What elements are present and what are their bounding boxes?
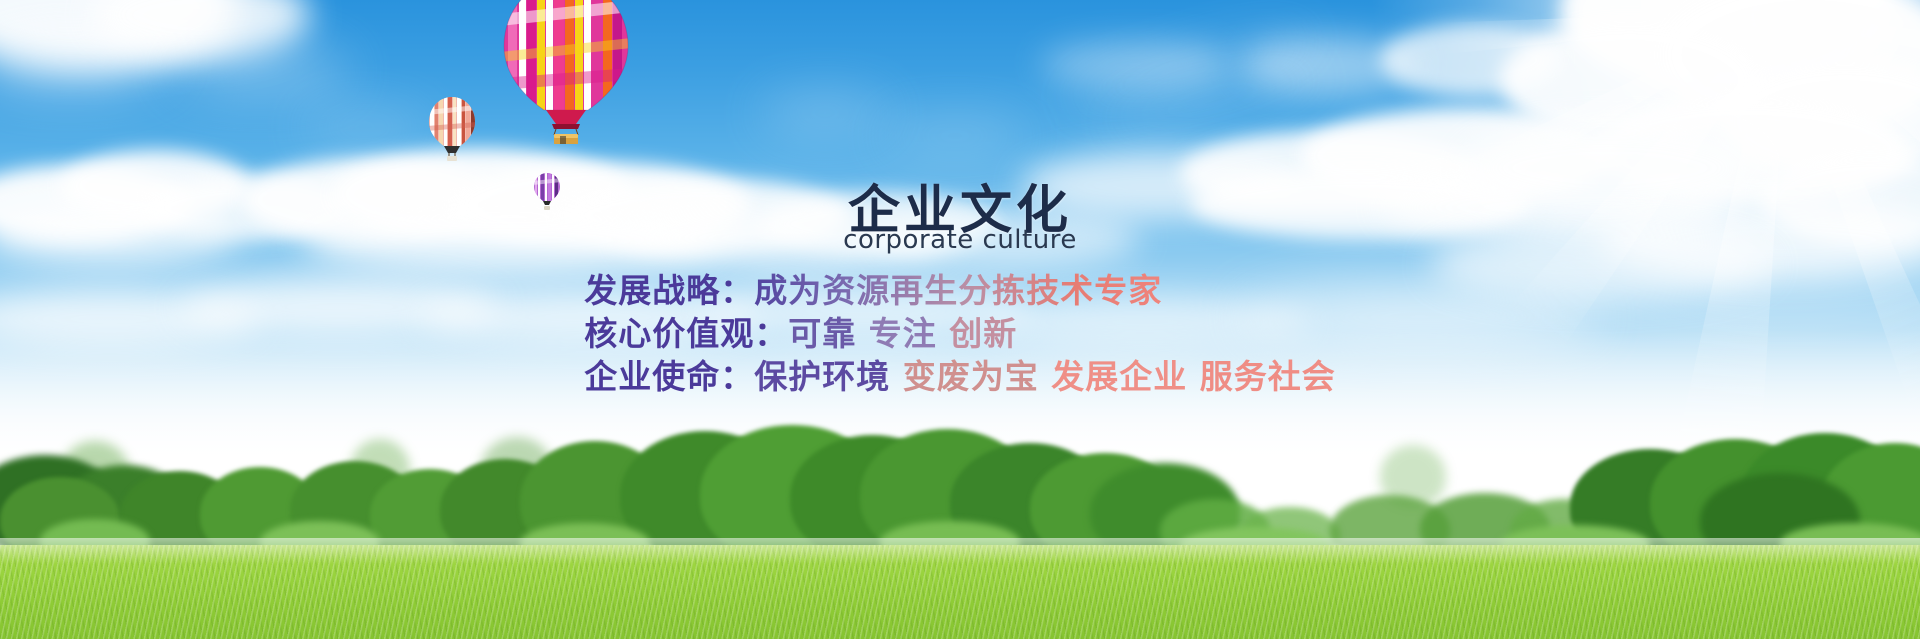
hot-air-balloon-medium (427, 96, 477, 164)
hot-air-balloon-large (500, 0, 632, 144)
corporate-culture-banner: 企业文化 corporate culture 发展战略：成为资源再生分拣技术专家… (0, 0, 1920, 639)
hot-air-balloon-small (533, 172, 561, 212)
grass-horizon-blend (0, 538, 1920, 564)
